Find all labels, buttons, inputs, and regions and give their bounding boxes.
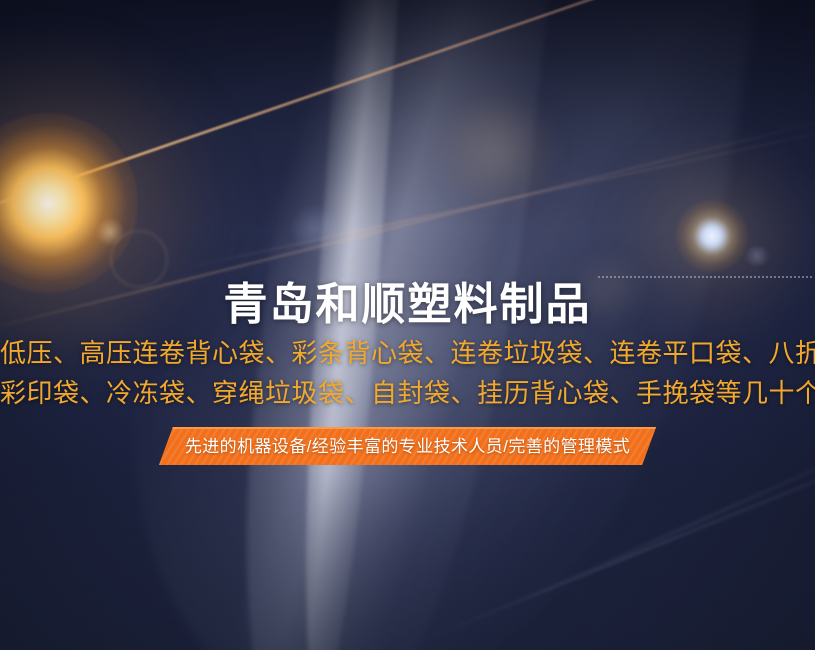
tagline-text: 先进的机器设备/经验丰富的专业技术人员/完善的管理模式 [185,429,630,465]
promo-banner: 青岛和顺塑料制品 低压、高压连卷背心袋、彩条背心袋、连卷垃圾袋、连卷平口袋、八折… [0,0,815,650]
product-line-1: 低压、高压连卷背心袋、彩条背心袋、连卷垃圾袋、连卷平口袋、八折垃圾袋、 [0,334,815,372]
tagline-ribbon: 先进的机器设备/经验丰富的专业技术人员/完善的管理模式 [159,427,656,465]
title-dotted-rule [598,276,812,280]
tagline-ribbon-wrapper: 先进的机器设备/经验丰富的专业技术人员/完善的管理模式 [0,427,815,465]
product-line-2: 彩印袋、冷冻袋、穿绳垃圾袋、自封袋、挂历背心袋、手挽袋等几十个品种 [0,374,815,412]
page-title: 青岛和顺塑料制品 [224,276,592,334]
banner-content: 青岛和顺塑料制品 低压、高压连卷背心袋、彩条背心袋、连卷垃圾袋、连卷平口袋、八折… [0,0,815,650]
